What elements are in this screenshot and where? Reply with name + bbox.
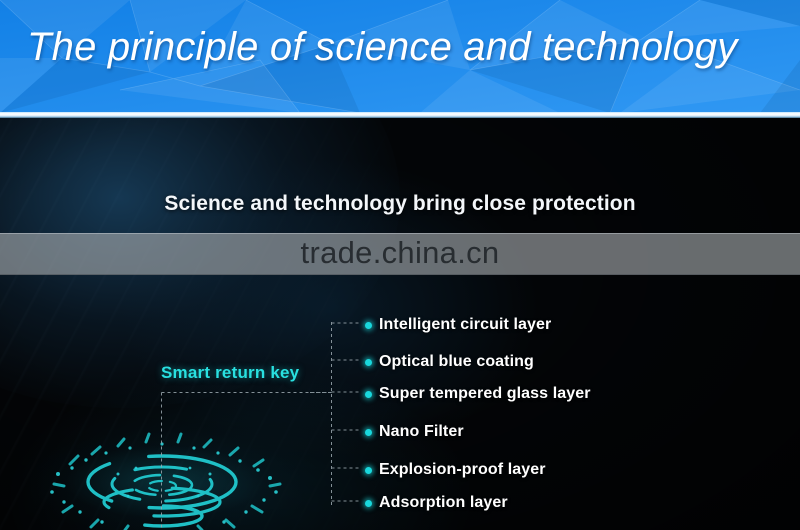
bullet-dot-icon [365,467,372,474]
callout-item: Optical blue coating [365,350,534,374]
bullet-dot-icon [365,500,372,507]
callout-label: Explosion-proof layer [379,461,546,479]
bullet-dot-icon [365,429,372,436]
bullet-dot-icon [365,359,372,366]
callout-item: Intelligent circuit layer [365,313,551,337]
callout-item: Adsorption layer [365,491,508,515]
callout-list: Intelligent circuit layer Optical blue c… [0,0,800,530]
callout-item: Nano Filter [365,420,464,444]
callout-label: Adsorption layer [379,494,508,512]
callout-label: Intelligent circuit layer [379,316,551,334]
callout-label: Super tempered glass layer [379,385,591,403]
callout-label: Optical blue coating [379,353,534,371]
product-infographic-slide: The principle of science and technology … [0,0,800,530]
callout-item: Explosion-proof layer [365,458,546,482]
callout-label: Nano Filter [379,423,464,441]
callout-item: Super tempered glass layer [365,382,591,406]
bullet-dot-icon [365,391,372,398]
bullet-dot-icon [365,322,372,329]
